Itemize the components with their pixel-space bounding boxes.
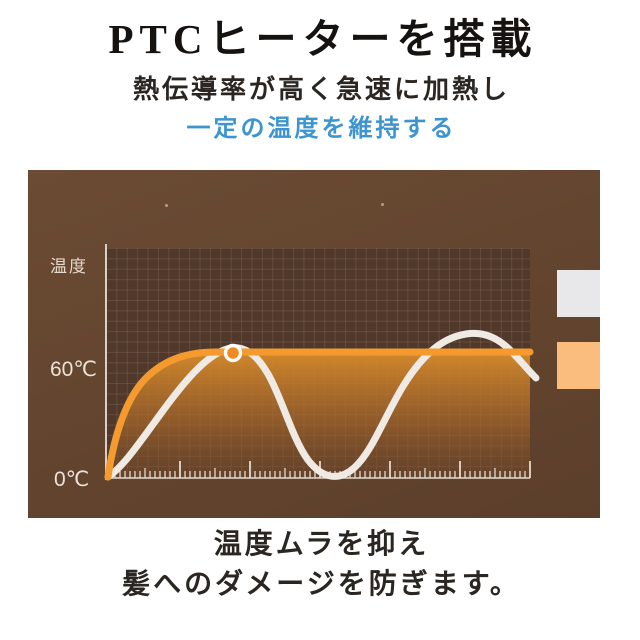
plateau-marker-icon	[226, 346, 241, 361]
footer-line-2: 髪へのダメージを防ぎます。	[0, 565, 640, 605]
page-title: PTCヒーターを搭載	[0, 0, 640, 63]
legend-swatch-orange	[557, 342, 600, 389]
footer-block: 温度ムラを抑え 髪へのダメージを防ぎます。	[0, 525, 640, 605]
footer-line-1: 温度ムラを抑え	[0, 525, 640, 565]
chart-svg	[28, 170, 600, 518]
series-fill-ptc	[106, 352, 530, 478]
heading-accent: 一定の温度を維持する	[0, 105, 640, 144]
heading-block: PTCヒーターを搭載 熱伝導率が高く急速に加熱し 一定の温度を維持する	[0, 0, 640, 143]
chart-panel: 温度 60℃ 0℃	[28, 170, 600, 518]
legend-swatch-white	[557, 270, 600, 317]
heading-subtitle: 熱伝導率が高く急速に加熱し	[0, 63, 640, 105]
